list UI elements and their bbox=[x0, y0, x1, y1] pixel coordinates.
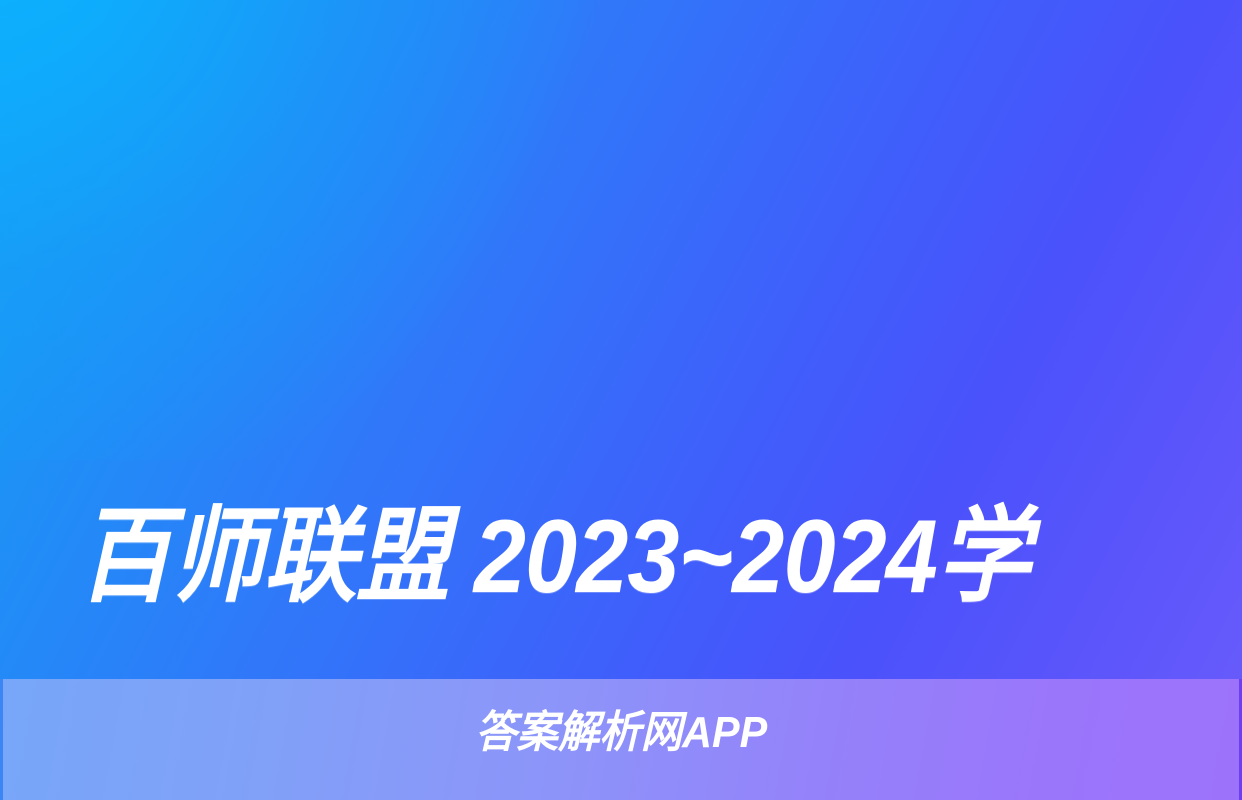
app-watermark: 答案解析网APP bbox=[0, 704, 1242, 762]
app-watermark-label: 答案解析网APP bbox=[475, 704, 767, 762]
answer-poster-card: 百师联盟 2023~2024学 年高二12月大联考地理(7 5分卷)答案 答案解… bbox=[0, 0, 1242, 800]
title-line-1: 百师联盟 2023~2024学 bbox=[78, 482, 1055, 632]
